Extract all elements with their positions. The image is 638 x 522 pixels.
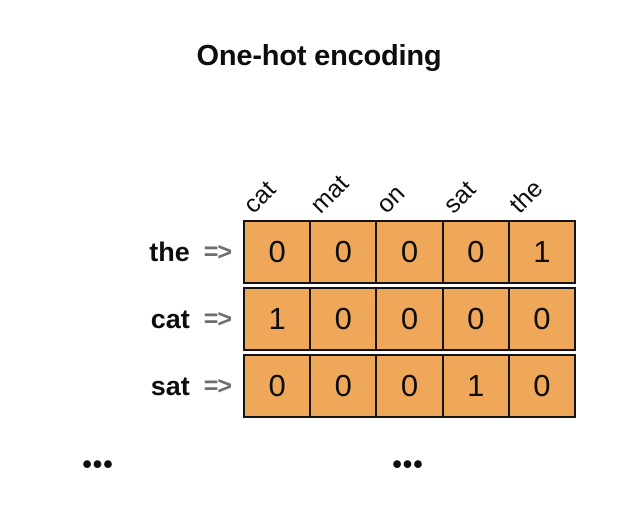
matrix-cell: 0: [444, 289, 510, 349]
column-header-on: on: [376, 120, 443, 220]
matrix-cell: 1: [245, 289, 311, 349]
table-row: 0 0 0 0 1: [243, 220, 576, 284]
arrow-icon: =>: [204, 371, 231, 401]
matrix-cell: 0: [311, 356, 377, 416]
column-header-label: the: [506, 176, 548, 218]
matrix-cell: 0: [245, 222, 311, 282]
cells-ellipsis: •••: [388, 449, 428, 479]
matrix-cell: 0: [510, 356, 574, 416]
column-headers: cat mat on sat the: [243, 120, 576, 220]
row-word: sat: [151, 371, 190, 401]
arrow-icon: =>: [204, 237, 231, 267]
column-header-label: on: [373, 181, 410, 218]
matrix-cell: 0: [510, 289, 574, 349]
table-row: 1 0 0 0 0: [243, 287, 576, 351]
table-row: 0 0 0 1 0: [243, 354, 576, 418]
matrix-cell: 0: [377, 356, 443, 416]
column-header-cat: cat: [243, 120, 310, 220]
matrix-cell: 0: [245, 356, 311, 416]
row-label-sat: sat =>: [56, 354, 231, 418]
row-label-cat: cat =>: [56, 287, 231, 351]
row-label-the: the =>: [56, 220, 231, 284]
column-header-label: mat: [306, 171, 353, 218]
arrow-icon: =>: [204, 304, 231, 334]
column-header-label: cat: [239, 177, 280, 218]
row-word: the: [149, 237, 190, 267]
column-header-sat: sat: [443, 120, 510, 220]
matrix-cell: 0: [377, 289, 443, 349]
matrix-cell: 1: [510, 222, 574, 282]
row-word: cat: [151, 304, 190, 334]
matrix-cell: 0: [377, 222, 443, 282]
column-header-mat: mat: [310, 120, 377, 220]
column-header-the: the: [509, 120, 576, 220]
matrix-cell: 0: [444, 222, 510, 282]
rows-ellipsis: •••: [78, 449, 118, 479]
page-title: One-hot encoding: [0, 36, 638, 76]
matrix-cell: 1: [444, 356, 510, 416]
matrix-cell: 0: [311, 289, 377, 349]
column-header-label: sat: [439, 177, 480, 218]
matrix-cell: 0: [311, 222, 377, 282]
one-hot-encoding-diagram: One-hot encoding cat mat on sat the the …: [0, 0, 638, 522]
